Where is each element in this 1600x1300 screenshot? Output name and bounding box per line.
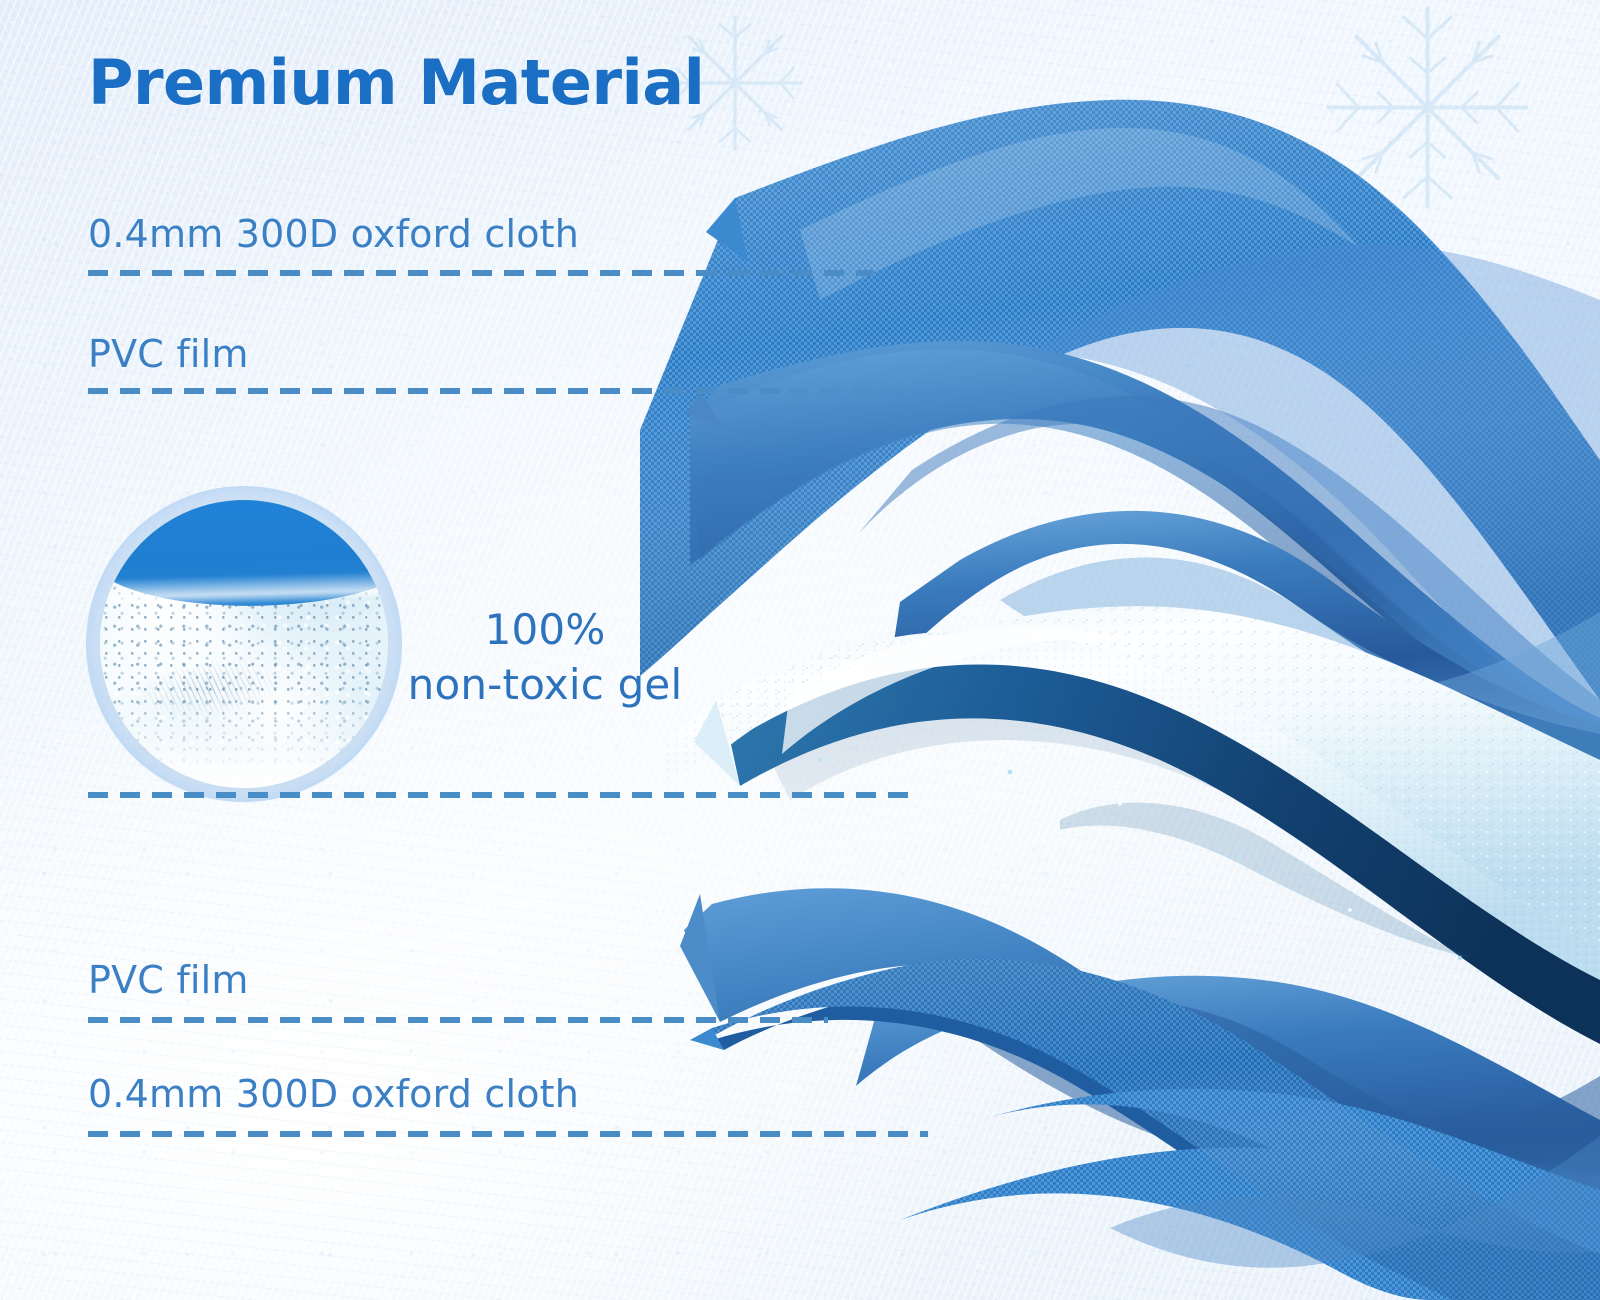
leader-line-gel xyxy=(88,792,913,798)
infographic-canvas: Premium Material 0.4mm 300D oxford cloth… xyxy=(0,0,1600,1300)
leader-line-oxford-bottom xyxy=(88,1131,928,1137)
label-oxford-top: 0.4mm 300D oxford cloth xyxy=(88,212,579,256)
gel-circle-clip xyxy=(100,500,388,788)
leader-line-pvc-bottom xyxy=(88,1017,828,1023)
callout-gel-line1: 100% xyxy=(485,605,606,654)
callout-gel-line2: non-toxic gel xyxy=(408,660,683,709)
leader-line-oxford-top xyxy=(88,270,873,276)
label-oxford-bottom: 0.4mm 300D oxford cloth xyxy=(88,1072,579,1116)
gel-sample-circle xyxy=(100,500,388,788)
leader-line-pvc-top xyxy=(88,388,788,394)
page-title: Premium Material xyxy=(88,52,704,114)
callout-gel-text: 100% non-toxic gel xyxy=(380,602,710,713)
label-pvc-top: PVC film xyxy=(88,332,249,376)
leader-line-pvc-top-overlay xyxy=(788,388,918,394)
label-pvc-bottom: PVC film xyxy=(88,958,249,1002)
gel-bottom-fade xyxy=(100,690,388,788)
